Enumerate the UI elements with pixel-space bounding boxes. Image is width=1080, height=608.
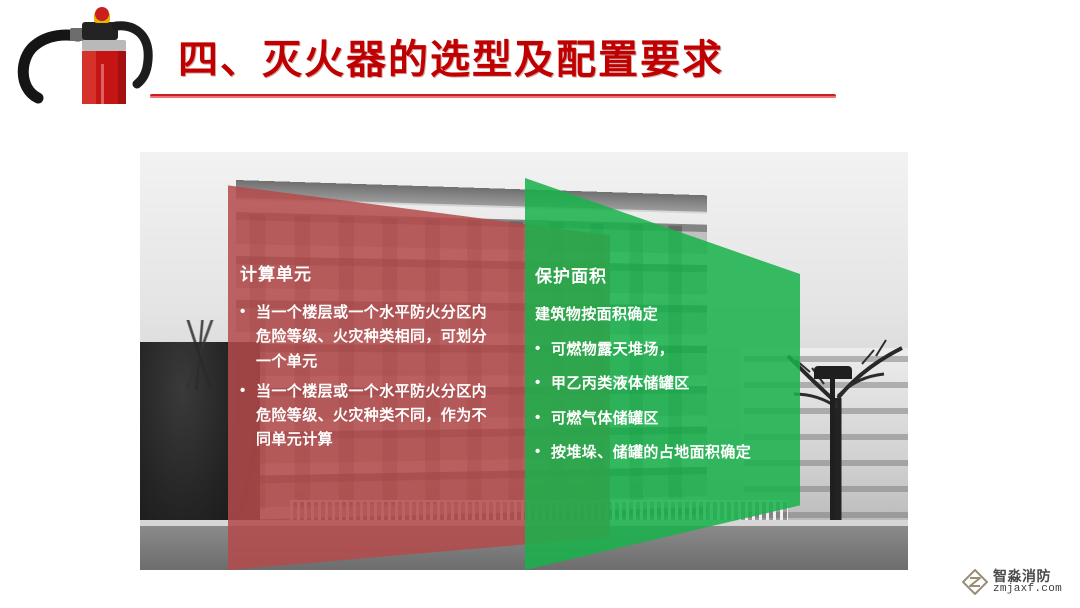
fire-extinguisher-icon <box>8 2 173 104</box>
slide-photo-stage: 计算单元 当一个楼层或一个水平防火分区内危险等级、火灾种类相同，可划分一个单元 … <box>140 152 908 570</box>
watermark-text: 智淼消防 zmjaxf.com <box>993 569 1062 595</box>
photo-street-lamp <box>830 376 835 526</box>
list-item: 甲乙丙类液体储罐区 <box>535 372 805 396</box>
list-item: 当一个楼层或一个水平防火分区内危险等级、火灾种类相同，可划分一个单元 <box>240 301 490 374</box>
panel-protected-area-content: 保护面积 建筑物按面积确定 可燃物露天堆场， 甲乙丙类液体储罐区 可燃气体储罐区… <box>535 262 805 475</box>
panel-protected-area-lead: 建筑物按面积确定 <box>535 303 805 324</box>
list-item: 可燃物露天堆场， <box>535 338 805 362</box>
panel-protected-area-heading: 保护面积 <box>535 262 805 287</box>
panel-calculation-unit-bullets: 当一个楼层或一个水平防火分区内危险等级、火灾种类相同，可划分一个单元 当一个楼层… <box>240 301 490 453</box>
panel-calculation-unit-content: 计算单元 当一个楼层或一个水平防火分区内危险等级、火灾种类相同，可划分一个单元 … <box>240 260 490 459</box>
zm-logo-icon <box>962 569 988 595</box>
watermark-url: zmjaxf.com <box>993 584 1062 596</box>
list-item: 当一个楼层或一个水平防火分区内危险等级、火灾种类不同，作为不同单元计算 <box>240 380 490 453</box>
panel-calculation-unit-heading: 计算单元 <box>240 260 490 285</box>
list-item: 按堆垛、储罐的占地面积确定 <box>535 441 805 465</box>
page-title: 四、灭火器的选型及配置要求 <box>178 40 724 80</box>
watermark: 智淼消防 zmjaxf.com <box>962 564 1074 600</box>
list-item: 可燃气体储罐区 <box>535 407 805 431</box>
slide-header: 四、灭火器的选型及配置要求 <box>0 0 1080 120</box>
panel-protected-area-bullets: 可燃物露天堆场， 甲乙丙类液体储罐区 可燃气体储罐区 按堆垛、储罐的占地面积确定 <box>535 338 805 465</box>
watermark-brand: 智淼消防 <box>993 569 1062 584</box>
title-underline-rule <box>150 94 836 98</box>
